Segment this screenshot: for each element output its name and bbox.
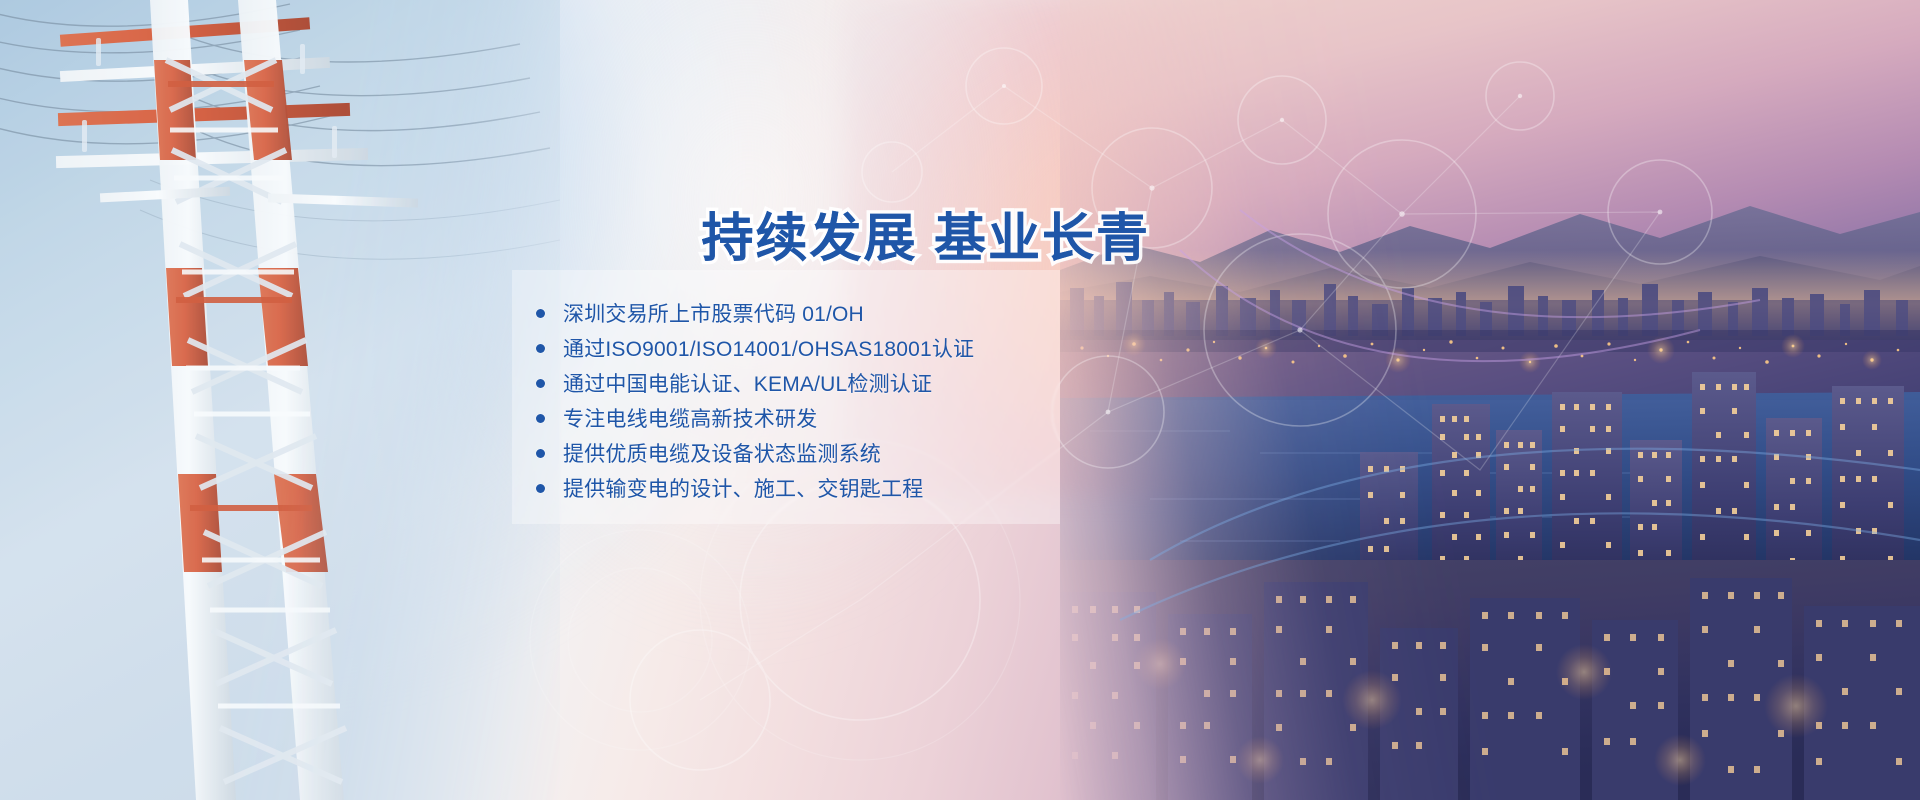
list-item-label: 专注电线电缆高新技术研发 [563, 403, 817, 433]
list-item-label: 通过ISO9001/ISO14001/OHSAS18001认证 [563, 333, 974, 363]
city-skyline-photo [1060, 0, 1920, 800]
page-title: 持续发展 基业长青 [0, 196, 1150, 271]
bullet-dot-icon [536, 379, 545, 388]
transmission-tower-photo [0, 0, 560, 800]
list-item: 提供输变电的设计、施工、交钥匙工程 [512, 471, 1060, 505]
list-item-label: 提供输变电的设计、施工、交钥匙工程 [563, 473, 923, 503]
list-item-label: 提供优质电缆及设备状态监测系统 [563, 438, 881, 468]
list-item: 深圳交易所上市股票代码 01/OH [512, 296, 1060, 330]
list-item: 通过ISO9001/ISO14001/OHSAS18001认证 [512, 331, 1060, 365]
list-item-label: 深圳交易所上市股票代码 01/OH [563, 298, 864, 328]
highlights-list: 深圳交易所上市股票代码 01/OH 通过ISO9001/ISO14001/OHS… [512, 270, 1060, 524]
list-item: 通过中国电能认证、KEMA/UL检测认证 [512, 366, 1060, 400]
list-item-label: 通过中国电能认证、KEMA/UL检测认证 [563, 368, 932, 398]
bullet-dot-icon [536, 414, 545, 423]
bullet-dot-icon [536, 309, 545, 318]
list-item: 提供优质电缆及设备状态监测系统 [512, 436, 1060, 470]
bullet-dot-icon [536, 484, 545, 493]
bullet-dot-icon [536, 449, 545, 458]
hero-banner: 持续发展 基业长青 持续发展 基业长青 深圳交易所上市股票代码 01/OH 通过… [0, 0, 1920, 800]
bullet-dot-icon [536, 344, 545, 353]
list-item: 专注电线电缆高新技术研发 [512, 401, 1060, 435]
